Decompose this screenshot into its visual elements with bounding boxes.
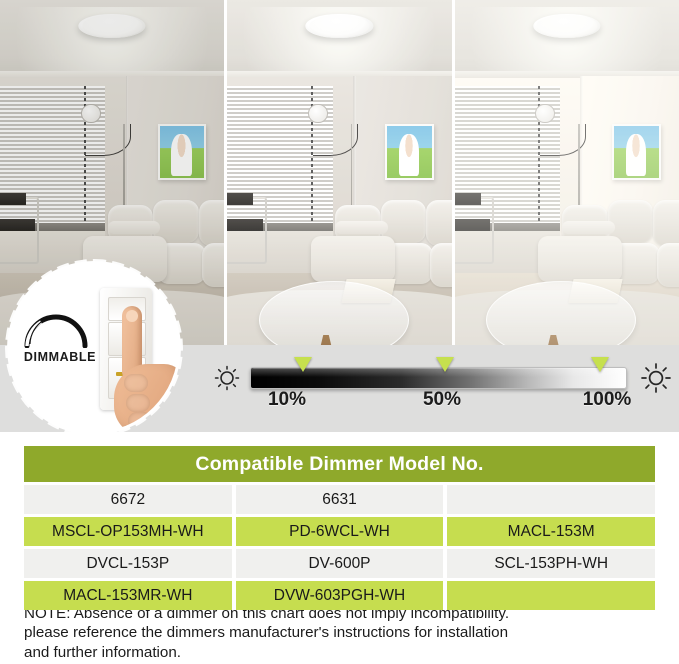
table-row: MSCL-OP153MH-WH PD-6WCL-WH MACL-153M: [24, 517, 655, 546]
room-photo-bright: [455, 0, 679, 345]
wall-artwork: [385, 124, 434, 180]
table-cell: MACL-153MR-WH: [24, 581, 232, 610]
table-cell: DVW-603PGH-WH: [236, 581, 444, 610]
table-cell: DVCL-153P: [24, 549, 232, 578]
slider-label-100: 100%: [583, 389, 632, 411]
ceiling-light-icon: [79, 14, 146, 39]
ceiling-light-icon: [533, 14, 600, 39]
slider-marker-10[interactable]: [294, 357, 312, 373]
brightness-slider[interactable]: 10% 50% 100%: [202, 345, 679, 432]
ceiling-light-icon: [306, 14, 373, 39]
table-cell: 6672: [24, 485, 232, 514]
table-cell: MACL-153M: [447, 517, 655, 546]
table-row: 6672 6631: [24, 485, 655, 514]
wall-artwork: [158, 124, 207, 180]
dimmable-label: DIMMABLE: [18, 350, 102, 364]
floor-lamp-shade: [81, 104, 101, 124]
slider-marker-50[interactable]: [436, 357, 454, 373]
compatibility-note: NOTE: Absence of a dimmer on this chart …: [24, 604, 664, 662]
table-row: DVCL-153P DV-600P SCL-153PH-WH: [24, 549, 655, 578]
note-line-3: and further information.: [24, 643, 664, 662]
low-brightness-sun-icon: [214, 365, 240, 391]
wall-artwork: [612, 124, 661, 180]
table-cell: [447, 485, 655, 514]
note-line-2: please reference the dimmers manufacture…: [24, 623, 664, 642]
compatible-dimmer-table: Compatible Dimmer Model No. 6672 6631 MS…: [24, 446, 655, 610]
dimmer-arc-icon: [24, 308, 88, 348]
high-brightness-sun-icon: [641, 363, 671, 393]
lounge-chair: [455, 190, 500, 266]
lounge-chair: [0, 190, 45, 266]
room-photo-mid: [227, 0, 451, 345]
table-cell: 6631: [236, 485, 444, 514]
dimmable-badge: DIMMABLE: [10, 264, 178, 432]
table-header: Compatible Dimmer Model No.: [24, 446, 655, 482]
pointing-finger-icon: [114, 306, 178, 432]
table-cell: [447, 581, 655, 610]
lounge-chair: [227, 190, 272, 266]
slider-label-10: 10%: [268, 389, 306, 411]
table-row: MACL-153MR-WH DVW-603PGH-WH: [24, 581, 655, 610]
table-cell: MSCL-OP153MH-WH: [24, 517, 232, 546]
slider-label-50: 50%: [423, 389, 461, 411]
table-cell: SCL-153PH-WH: [447, 549, 655, 578]
table-cell: PD-6WCL-WH: [236, 517, 444, 546]
table-cell: DV-600P: [236, 549, 444, 578]
slider-marker-100[interactable]: [591, 357, 609, 373]
